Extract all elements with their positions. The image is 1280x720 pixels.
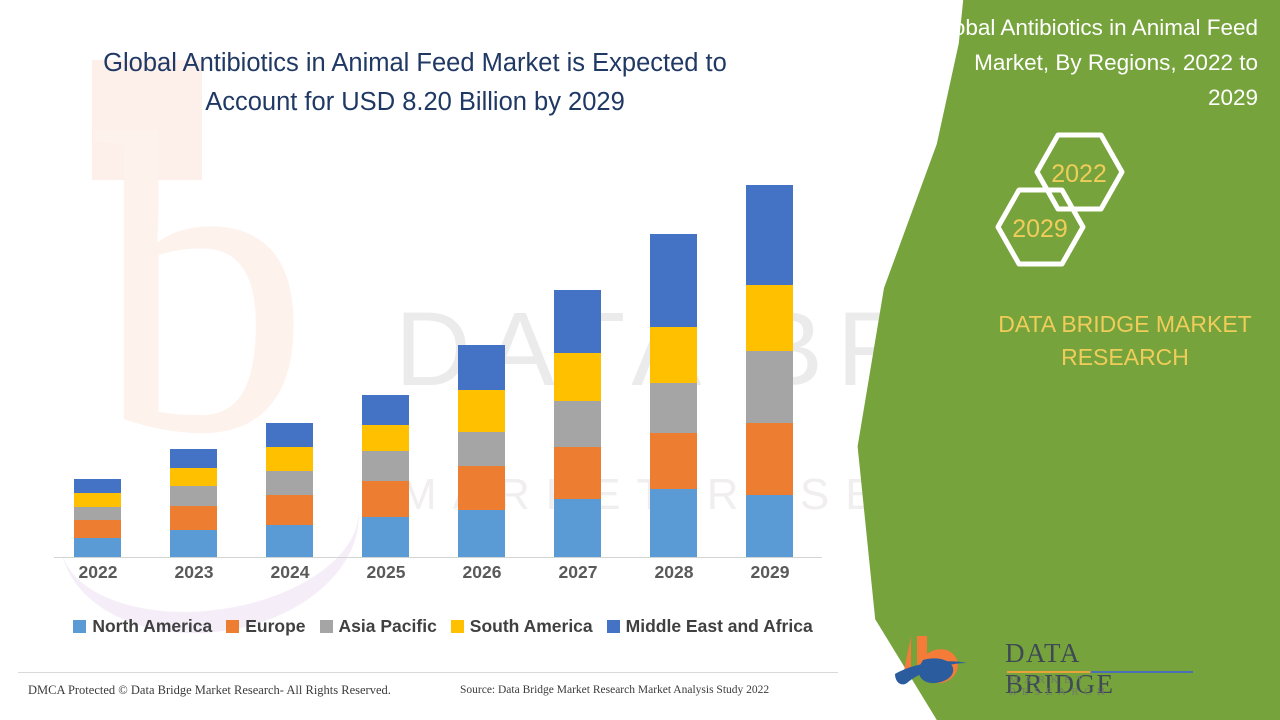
bar-segment <box>362 395 409 425</box>
bar-segment <box>74 479 121 493</box>
legend-item[interactable]: Asia Pacific <box>320 616 437 637</box>
chart-legend: North AmericaEuropeAsia PacificSouth Ame… <box>48 616 838 637</box>
bar-segment <box>74 493 121 507</box>
bar-segment <box>650 433 697 489</box>
hexagon-svg: 2022 2029 <box>988 118 1188 288</box>
bar-segment <box>266 495 313 525</box>
bar-column <box>74 479 121 557</box>
bar-segment <box>650 489 697 557</box>
logo-tagline: MARKET RESEARCH <box>1009 674 1193 698</box>
hexagon-front-label: 2022 <box>1051 160 1107 188</box>
hexagon-back-label: 2029 <box>1012 215 1068 243</box>
x-axis-tick-label: 2029 <box>722 562 818 583</box>
bar-column <box>554 290 601 557</box>
legend-label: South America <box>470 616 593 637</box>
bar-segment <box>266 423 313 447</box>
x-axis-tick-label: 2028 <box>626 562 722 583</box>
x-axis-tick-label: 2027 <box>530 562 626 583</box>
stacked-bar-chart: 20222023202420252026202720282029 <box>46 150 826 560</box>
bar-segment <box>458 432 505 466</box>
bar-column <box>650 234 697 557</box>
chart-plot-area <box>46 150 826 557</box>
bar-segment <box>458 466 505 510</box>
footer-source: Source: Data Bridge Market Research Mark… <box>460 684 769 696</box>
bar-segment <box>362 451 409 481</box>
bar-column <box>362 395 409 557</box>
bar-segment <box>554 290 601 353</box>
bar-segment <box>266 525 313 557</box>
panel-brand-text: DATA BRIDGE MARKET RESEARCH <box>960 308 1280 374</box>
bar-column <box>458 345 505 557</box>
bar-segment <box>650 383 697 433</box>
bar-segment <box>650 234 697 327</box>
bar-segment <box>74 507 121 520</box>
bar-segment <box>458 390 505 432</box>
legend-swatch-icon <box>607 620 620 633</box>
legend-swatch-icon <box>226 620 239 633</box>
bar-segment <box>74 538 121 557</box>
logo-mark-icon <box>893 630 993 696</box>
legend-label: Europe <box>245 616 305 637</box>
bar-segment <box>746 495 793 557</box>
bar-segment <box>266 471 313 495</box>
legend-item[interactable]: South America <box>451 616 593 637</box>
bar-segment <box>554 353 601 401</box>
bar-column <box>170 449 217 557</box>
bar-segment <box>170 449 217 468</box>
bar-segment <box>362 517 409 557</box>
data-bridge-logo: DATA BRIDGE MARKET RESEARCH <box>893 630 1193 700</box>
bar-column <box>746 185 793 557</box>
x-axis-tick-label: 2024 <box>242 562 338 583</box>
bar-segment <box>554 447 601 499</box>
legend-item[interactable]: North America <box>73 616 212 637</box>
bar-segment <box>362 425 409 451</box>
legend-item[interactable]: Middle East and Africa <box>607 616 813 637</box>
legend-swatch-icon <box>451 620 464 633</box>
hexagon-badges: 2022 2029 <box>988 118 1188 288</box>
bar-segment <box>554 499 601 557</box>
footer-divider <box>18 672 838 673</box>
legend-label: Middle East and Africa <box>626 616 813 637</box>
infographic-canvas: b DATA BRIDGE MARKET RESEARCH Global Ant… <box>0 0 1280 720</box>
bar-segment <box>170 468 217 486</box>
bar-segment <box>170 486 217 506</box>
x-axis-tick-label: 2023 <box>146 562 242 583</box>
x-axis-line <box>54 557 822 558</box>
x-axis-tick-label: 2022 <box>50 562 146 583</box>
x-axis-tick-label: 2026 <box>434 562 530 583</box>
bar-segment <box>746 423 793 495</box>
x-axis-labels: 20222023202420252026202720282029 <box>46 562 826 592</box>
legend-swatch-icon <box>73 620 86 633</box>
legend-label: Asia Pacific <box>339 616 437 637</box>
legend-label: North America <box>92 616 212 637</box>
x-axis-tick-label: 2025 <box>338 562 434 583</box>
bar-segment <box>458 345 505 390</box>
bar-segment <box>170 530 217 557</box>
legend-item[interactable]: Europe <box>226 616 305 637</box>
bar-segment <box>458 510 505 557</box>
bar-segment <box>74 520 121 538</box>
bar-segment <box>746 185 793 285</box>
bar-segment <box>362 481 409 517</box>
bar-segment <box>266 447 313 471</box>
bar-column <box>266 423 313 557</box>
legend-swatch-icon <box>320 620 333 633</box>
logo-underline <box>1007 671 1193 673</box>
chart-title: Global Antibiotics in Animal Feed Market… <box>70 44 760 122</box>
bar-segment <box>650 327 697 383</box>
bar-segment <box>554 401 601 447</box>
footer-copyright: DMCA Protected © Data Bridge Market Rese… <box>28 683 391 698</box>
bar-segment <box>746 351 793 423</box>
bar-segment <box>170 506 217 530</box>
panel-title: Global Antibiotics in Animal Feed Market… <box>928 10 1258 115</box>
bar-segment <box>746 285 793 351</box>
